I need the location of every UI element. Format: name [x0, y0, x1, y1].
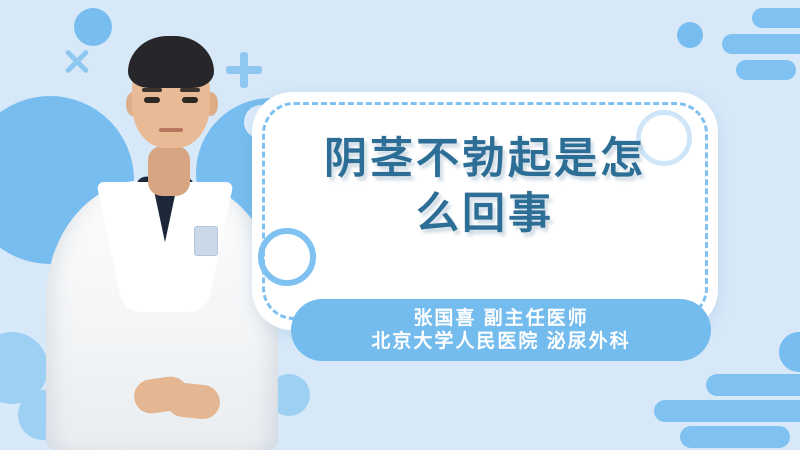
page-title-line-2: 么回事: [252, 187, 718, 242]
doctor-eyebrow-right: [180, 88, 200, 92]
decorative-bar-bottom-right-1: [706, 374, 800, 396]
doctor-eye-right: [182, 97, 198, 103]
doctor-eyebrow-left: [142, 88, 162, 92]
doctor-neck: [148, 146, 190, 196]
decorative-bar-bottom-right-2: [654, 400, 800, 422]
page-title: 阴茎不勃起是怎 么回事: [252, 132, 718, 242]
doctor-name-and-rank: 张国喜 副主任医师: [413, 307, 588, 330]
decorative-bar-top-right-3: [736, 60, 796, 80]
decorative-bar-top-right-1: [752, 8, 800, 28]
decorative-bar-top-right-2: [722, 34, 800, 54]
title-card: 阴茎不勃起是怎 么回事: [252, 92, 718, 330]
decorative-circle-bottom-right: [779, 332, 800, 372]
decorative-bar-bottom-right-3: [680, 426, 790, 448]
doctor-portrait: [38, 0, 286, 450]
doctor-mouth: [159, 128, 183, 132]
doctor-eye-left: [144, 97, 160, 103]
video-thumbnail-canvas: 阴茎不勃起是怎 么回事 张国喜 副主任医师 北京大学人民医院 泌尿外科: [0, 0, 800, 450]
doctor-hair: [128, 36, 214, 88]
doctor-id-badge: [194, 226, 218, 256]
page-title-line-1: 阴茎不勃起是怎: [252, 132, 718, 187]
decorative-circle-top-right: [677, 22, 703, 48]
doctor-hospital-and-department: 北京大学人民医院 泌尿外科: [371, 330, 630, 353]
doctor-byline-badge: 张国喜 副主任医师 北京大学人民医院 泌尿外科: [291, 299, 711, 361]
